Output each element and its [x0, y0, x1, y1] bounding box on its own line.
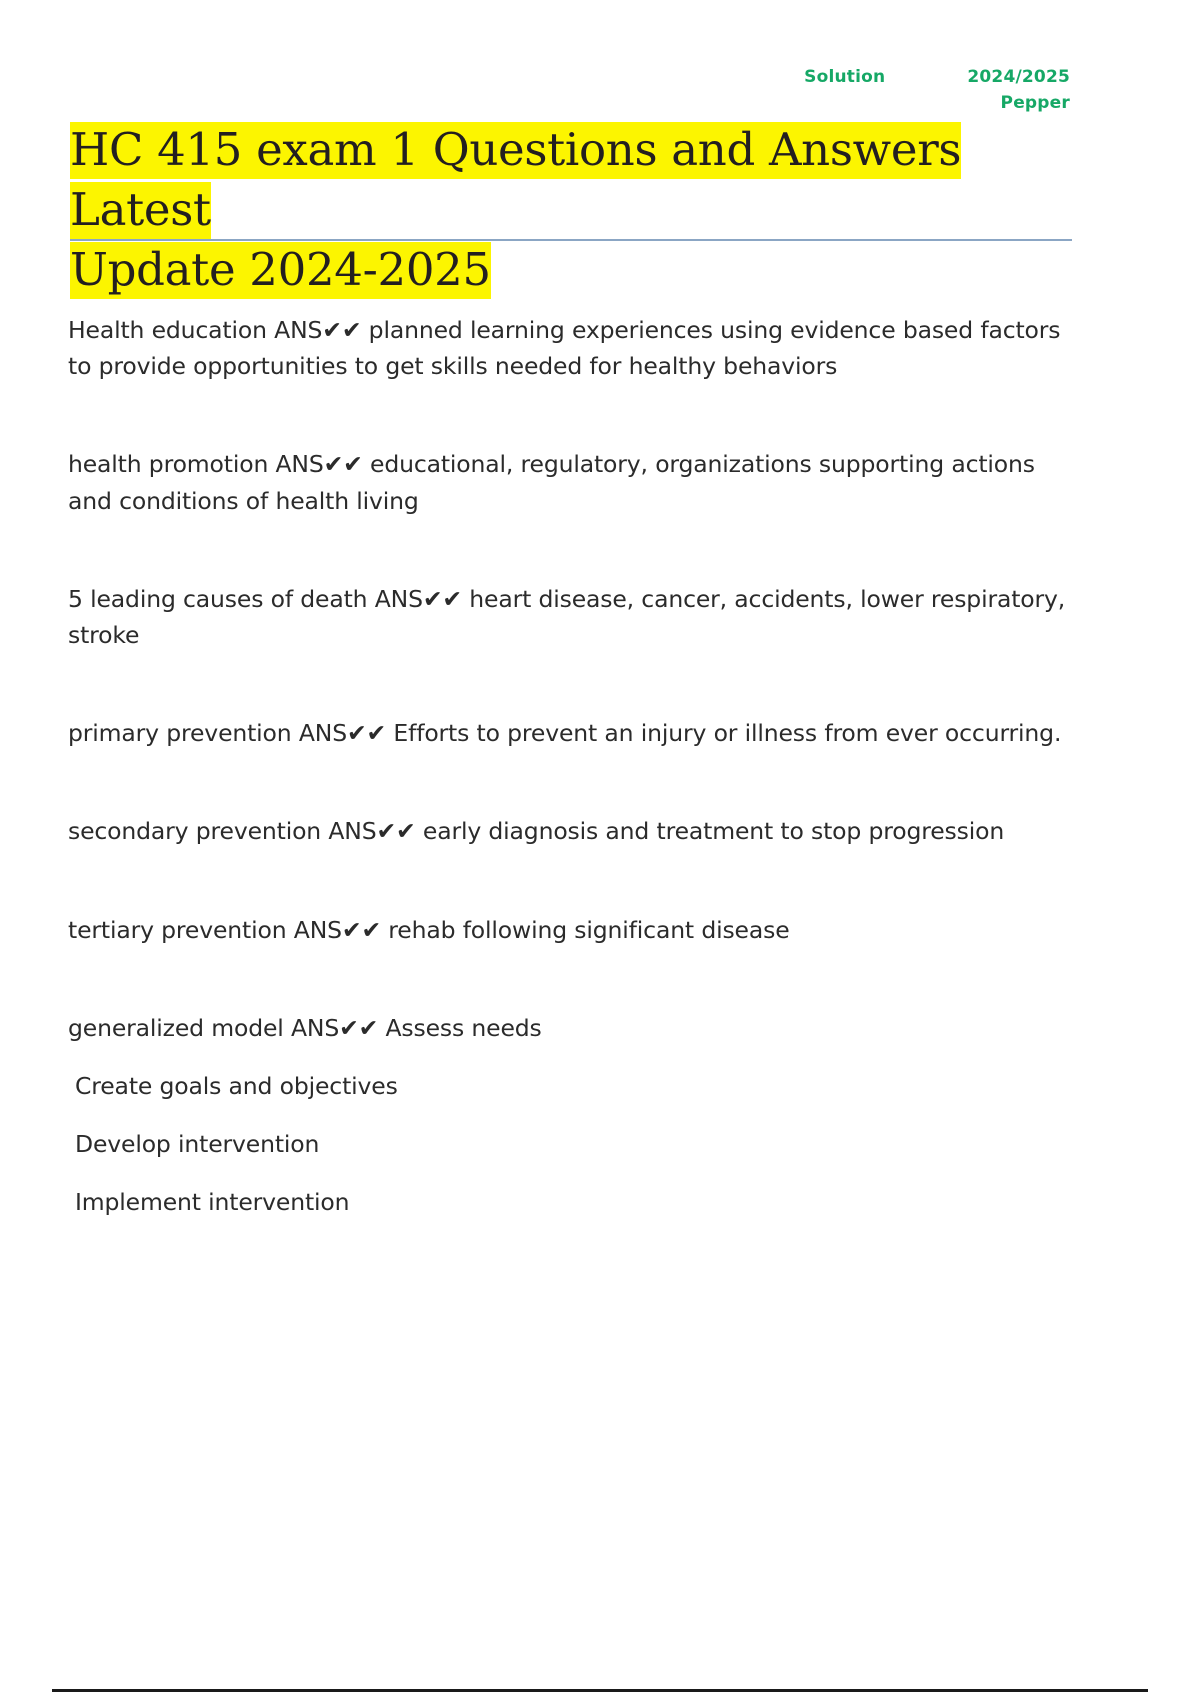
qa-text: health promotion ANS✔✔ educational, regu… — [68, 446, 1068, 518]
page-title-text: HC 415 exam 1 Questions and Answers Late… — [70, 120, 1080, 300]
page-title: HC 415 exam 1 Questions and Answers Late… — [70, 120, 1080, 300]
footer-divider — [52, 1689, 1148, 1692]
qa-item-primary-prevention: primary prevention ANS✔✔ Efforts to prev… — [68, 715, 1068, 751]
qa-item-secondary-prevention: secondary prevention ANS✔✔ early diagnos… — [68, 813, 1068, 849]
qa-sub-item: Develop intervention — [68, 1126, 1068, 1162]
meta-row-primary: Solution 2024/2025 — [650, 64, 1070, 90]
qa-text: generalized model ANS✔✔ Assess needs — [68, 1010, 1068, 1046]
page-title-line-1: HC 415 exam 1 Questions and Answers Late… — [70, 122, 961, 239]
qa-text: tertiary prevention ANS✔✔ rehab followin… — [68, 912, 1068, 948]
academic-year-label: 2024/2025 — [967, 64, 1070, 90]
qa-item-health-education: Health education ANS✔✔ planned learning … — [68, 312, 1068, 384]
qa-text: secondary prevention ANS✔✔ early diagnos… — [68, 813, 1068, 849]
qa-text: 5 leading causes of death ANS✔✔ heart di… — [68, 581, 1068, 653]
document-meta-header: Solution 2024/2025 Pepper — [650, 64, 1070, 117]
qa-item-leading-causes-of-death: 5 leading causes of death ANS✔✔ heart di… — [68, 581, 1068, 653]
solution-label: Solution — [804, 64, 885, 90]
qa-text: primary prevention ANS✔✔ Efforts to prev… — [68, 715, 1068, 751]
qa-item-generalized-model: generalized model ANS✔✔ Assess needs Cre… — [68, 1010, 1068, 1221]
document-page: Solution 2024/2025 Pepper HC 415 exam 1 … — [0, 0, 1200, 1700]
qa-sub-item: Create goals and objectives — [68, 1068, 1068, 1104]
qa-sub-item: Implement intervention — [68, 1184, 1068, 1220]
qa-item-tertiary-prevention: tertiary prevention ANS✔✔ rehab followin… — [68, 912, 1068, 948]
qa-item-health-promotion: health promotion ANS✔✔ educational, regu… — [68, 446, 1068, 518]
author-label: Pepper — [1001, 93, 1070, 113]
title-divider — [70, 239, 1072, 241]
meta-row-secondary: Pepper — [650, 90, 1070, 116]
qa-list: Health education ANS✔✔ planned learning … — [68, 312, 1068, 1220]
page-title-line-2: Update 2024-2025 — [70, 242, 491, 299]
qa-text: Health education ANS✔✔ planned learning … — [68, 312, 1068, 384]
